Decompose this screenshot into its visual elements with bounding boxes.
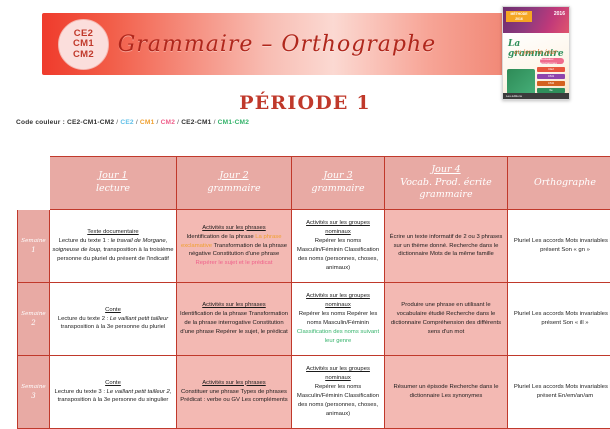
cell-line: Pluriel — [514, 384, 530, 390]
week-number: 3 — [20, 391, 47, 402]
cell-lines: Lecture du texte 2 : Le vaillant petit t… — [52, 315, 174, 333]
color-code-item: CE2-CM1-CM2 — [67, 119, 114, 126]
cell-line: Son « ill » — [563, 320, 589, 326]
week-cell: Semaine3 — [18, 356, 50, 429]
cell-lines: Pluriel Les accords Mots invariables Le … — [510, 237, 610, 255]
cell-title: Activités sur les phrases — [179, 224, 289, 233]
cell-line: Repérer le sujet, le prédicat — [216, 329, 288, 335]
cell-line: Lecture du texte 3 : — [55, 389, 107, 395]
cell-jour4: Produire une phrase en utilisant le voca… — [385, 283, 508, 356]
cell-line: Mots invariables — [565, 384, 608, 390]
cell-line: Masculin/Féminin — [323, 320, 369, 326]
book-year: 2016 — [554, 11, 565, 17]
book-cover-image: MÉTHODE 2016 2016 La grammaire au jour l… — [502, 6, 570, 100]
cell-lines: Lecture du texte 1 : le travail de Morga… — [52, 237, 174, 264]
method-badge-sub: 2016 — [515, 17, 523, 21]
book-level-bar: CM1 — [537, 74, 565, 79]
cell-lines: Repérer les noms Repérer les noms Mascul… — [294, 310, 382, 346]
cell-line: Les compléments — [242, 397, 288, 403]
color-code-legend: Code couleur : CE2-CM1-CM2 / CE2 / CM1 /… — [16, 119, 249, 126]
column-header-orthographe: Orthographe — [508, 157, 610, 210]
cell-lines: Résumer un épisode Recherche dans le dic… — [387, 383, 505, 401]
cell-line: Les accords — [532, 311, 564, 317]
week-label: Semaine — [21, 238, 45, 244]
cell-line: Le vaillant petit tailleur 2, — [107, 389, 172, 395]
week-cell: Semaine1 — [18, 210, 50, 283]
table-row: Semaine3ConteLecture du texte 3 : Le vai… — [18, 356, 610, 429]
cell-title: Conte — [52, 379, 174, 388]
cell-lines: Constituer une phrase Types de phrases P… — [179, 388, 289, 406]
week-label: Semaine — [21, 311, 45, 317]
column-header-orthographe-label: Orthographe — [510, 177, 610, 190]
table-header-row: Jour 1 lecture Jour 2 grammaire Jour 3 g… — [18, 157, 610, 210]
cell-lines: Identification de la phrase Transformati… — [179, 310, 289, 337]
cell-line: Les synonymes — [441, 393, 482, 399]
cell-lines: Lecture du texte 3 : Le vaillant petit t… — [52, 388, 174, 406]
cell-lines: Produire une phrase en utilisant le voca… — [387, 301, 505, 337]
cell-lines: Pluriel Les accords Mots invariables Le … — [510, 383, 610, 401]
cell-line: Pluriel — [514, 238, 530, 244]
week-number: 1 — [20, 245, 47, 256]
week-label: Semaine — [21, 384, 45, 390]
cell-line: Résumer un épisode — [393, 384, 447, 390]
cell-title: Activités sur les groupes nominaux — [294, 219, 382, 237]
cell-jour4: Résumer un épisode Recherche dans le dic… — [385, 356, 508, 429]
column-header-jour-3-line-1: Jour 3 — [294, 170, 382, 183]
book-level-bar: CE2 — [537, 67, 565, 72]
cell-jour3: Activités sur les groupes nominauxRepére… — [292, 356, 385, 429]
cell-line: Prédicat : verbe ou GV — [180, 397, 240, 403]
cell-line: Compréhension des différents sens d'un m… — [423, 320, 501, 335]
color-code-item: CM1-CM2 — [218, 119, 249, 126]
cell-ortho: Pluriel Les accords Mots invariables Le … — [508, 356, 610, 429]
column-header-week — [18, 157, 50, 210]
cell-title: Activités sur les groupes nominaux — [294, 365, 382, 383]
column-header-jour-1-line-2: lecture — [52, 183, 174, 196]
cell-lines: Pluriel Les accords Mots invariables Le … — [510, 310, 610, 328]
cell-title: Texte documentaire — [52, 228, 174, 237]
cell-jour2: Activités sur les phrasesConstituer une … — [177, 356, 292, 429]
cell-title: Activités sur les phrases — [179, 379, 289, 388]
period-title: PÉRIODE 1 — [0, 92, 610, 114]
cell-lines: Repérer les noms Masculin/Féminin Classi… — [294, 383, 382, 419]
column-header-jour-4-line-1: Jour 4 — [387, 164, 505, 177]
color-code-item: CE2-CM1 — [181, 119, 211, 126]
cell-line: Repérer les noms — [299, 311, 346, 317]
cell-jour2: Activités sur les phrasesIdentification … — [177, 283, 292, 356]
cell-jour3: Activités sur les groupes nominauxRepére… — [292, 210, 385, 283]
cell-line: Lecture du texte 2 : — [58, 316, 110, 322]
column-header-jour-2: Jour 2 grammaire — [177, 157, 292, 210]
cell-jour3: Activités sur les groupes nominauxRepére… — [292, 283, 385, 356]
cell-line: Les accords — [532, 384, 564, 390]
cell-line: Constituer une phrase — [181, 389, 239, 395]
cell-lines: Identification de la phrase La phrase ex… — [179, 233, 289, 269]
page-title: Grammaire – Orthographe — [42, 13, 512, 75]
book-level-bar: CM2 — [537, 81, 565, 86]
cell-line: Son « gn » — [561, 247, 590, 253]
color-code-item: CE2 — [120, 119, 133, 126]
color-code-item: CM1 — [140, 119, 155, 126]
cell-line: Repérer les noms — [315, 384, 362, 390]
cell-line: Mots invariables — [565, 311, 608, 317]
column-header-jour-3-line-2: grammaire — [294, 183, 382, 196]
cell-lines: Écrire un texte informatif de 2 ou 3 phr… — [387, 233, 505, 260]
cell-jour4: Écrire un texte informatif de 2 ou 3 phr… — [385, 210, 508, 283]
cell-line: Le vaillant petit tailleur — [110, 316, 168, 322]
table-header: Jour 1 lecture Jour 2 grammaire Jour 3 g… — [18, 157, 610, 210]
cell-line: Masculin/Féminin — [297, 247, 343, 253]
cell-line: Masculin/Féminin — [297, 393, 343, 399]
header-banner: CE2 CM1 CM2 Grammaire – Orthographe — [42, 13, 512, 75]
cell-title: Conte — [52, 306, 174, 315]
book-pill-label: Nouveaux programmes — [540, 58, 564, 64]
color-code-label: Code couleur : — [16, 119, 67, 126]
column-header-jour-2-line-2: grammaire — [179, 183, 289, 196]
column-header-jour-2-line-1: Jour 2 — [179, 170, 289, 183]
planning-table: Jour 1 lecture Jour 2 grammaire Jour 3 g… — [17, 156, 610, 429]
cell-jour2: Activités sur les phrasesIdentification … — [177, 210, 292, 283]
table-row: Semaine2ConteLecture du texte 2 : Le vai… — [18, 283, 610, 356]
cell-lines: Repérer les noms Masculin/Féminin Classi… — [294, 237, 382, 273]
cell-line: Mots invariables — [565, 238, 608, 244]
book-cover-body: La grammaire au jour le jour Nouveaux pr… — [503, 33, 569, 99]
column-header-jour-1-line-1: Jour 1 — [52, 170, 174, 183]
cell-line: Types de phrases — [241, 389, 288, 395]
cell-line: Identification de la phrase — [187, 234, 254, 240]
table-row: Semaine1Texte documentaireLecture du tex… — [18, 210, 610, 283]
cell-jour1: ConteLecture du texte 2 : Le vaillant pe… — [50, 283, 177, 356]
cell-ortho: Pluriel Les accords Mots invariables Le … — [508, 210, 610, 283]
cell-line: Identification de la phrase — [180, 311, 247, 317]
method-badge: MÉTHODE 2016 — [506, 11, 532, 22]
cell-title: Activités sur les groupes nominaux — [294, 292, 382, 310]
cell-line: Mots de la même famille — [430, 251, 494, 257]
cell-ortho: Pluriel Les accords Mots invariables Le … — [508, 283, 610, 356]
table-body: Semaine1Texte documentaireLecture du tex… — [18, 210, 610, 429]
book-title-line-2: au jour le jour — [514, 49, 557, 56]
cell-line: Repérer le sujet et le prédicat — [196, 260, 273, 266]
book-level-bars: CE2 CM1 CM2 6e — [537, 67, 565, 95]
week-number: 2 — [20, 318, 47, 329]
cell-line: En/em/an/am — [558, 393, 593, 399]
color-code-item: CM2 — [161, 119, 176, 126]
cell-line: Classification des noms suivant leur gen… — [297, 329, 379, 344]
column-header-jour-3: Jour 3 grammaire — [292, 157, 385, 210]
cell-line: transposition à la 3e personne du singul… — [58, 397, 169, 403]
cell-jour1: ConteLecture du texte 3 : Le vaillant pe… — [50, 356, 177, 429]
column-header-jour-4-line-3: grammaire — [387, 189, 505, 202]
week-cell: Semaine2 — [18, 283, 50, 356]
cell-line: Lecture du texte 1 : — [59, 238, 111, 244]
cell-line: Les accords — [532, 238, 564, 244]
banner-gradient: CE2 CM1 CM2 Grammaire – Orthographe — [42, 13, 512, 75]
cell-line: Pluriel — [514, 311, 530, 317]
cell-line: transposition à la 3e personne du plurie… — [61, 324, 165, 330]
column-header-jour-4-line-2: Vocab. Prod. écrite — [387, 177, 505, 190]
column-header-jour-1: Jour 1 lecture — [50, 157, 177, 210]
cell-title: Activités sur les phrases — [179, 301, 289, 310]
column-header-jour-4: Jour 4 Vocab. Prod. écrite grammaire — [385, 157, 508, 210]
cell-line: Repérer les noms — [315, 238, 362, 244]
cell-line: Constitution d'une phrase — [213, 251, 280, 257]
cell-jour1: Texte documentaireLecture du texte 1 : l… — [50, 210, 177, 283]
